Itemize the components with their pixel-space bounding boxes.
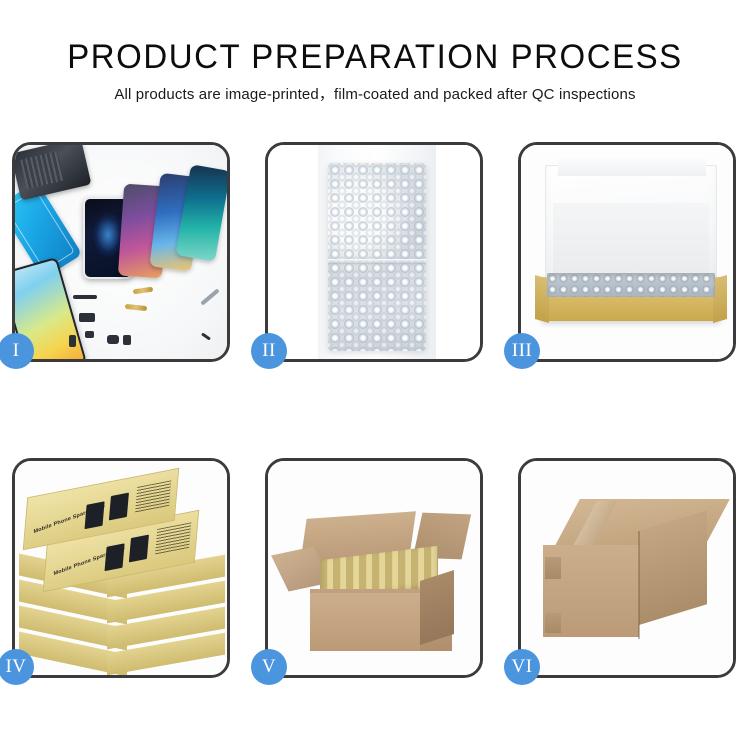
bubble-wrapped-product (328, 163, 426, 351)
step-photo-open-carton (268, 461, 480, 675)
step-card-3: III (518, 142, 736, 362)
carton-front-panel (310, 593, 420, 651)
process-steps-grid: I II (12, 142, 738, 678)
sealed-carton-tab-lower (545, 613, 561, 633)
scene-box-stack: Mobile Phone Spare Parts Mobile Phone Sp… (15, 461, 227, 675)
scene-spare-parts (15, 145, 227, 359)
camera-module (79, 313, 95, 322)
header: PRODUCT PREPARATION PROCESS All products… (0, 36, 750, 105)
step-badge-5: V (251, 649, 287, 685)
phone-chassis-open (15, 145, 91, 200)
step-photo-sealed-carton (521, 461, 733, 675)
box-thumb-2a (105, 543, 125, 571)
screw-set (201, 332, 211, 340)
step-card-4: Mobile Phone Spare Parts Mobile Phone Sp… (12, 458, 230, 678)
box-spec-lines-1 (135, 480, 171, 513)
sealed-carton-edge-seam (638, 531, 640, 639)
flex-cable-2 (125, 304, 147, 311)
step-card-2: II (265, 142, 483, 362)
sim-tray (69, 335, 76, 347)
box-thumb-2b (129, 535, 149, 563)
step-photo-parts (15, 145, 227, 359)
step-card-5: V (265, 458, 483, 678)
battery-connector (107, 335, 119, 344)
bubble-texture-secondary (328, 163, 426, 351)
step-badge-4: IV (0, 649, 34, 685)
sealed-carton-side (639, 510, 707, 625)
step-badge-3: III (504, 333, 540, 369)
flex-cable-1 (133, 287, 154, 295)
step-photo-bubble-wrap (268, 145, 480, 359)
bubble-wrapped-contents (547, 273, 715, 297)
scene-open-mailer (521, 145, 733, 359)
page-title: PRODUCT PREPARATION PROCESS (11, 36, 739, 78)
bubble-wrap-fold-seam (328, 259, 426, 264)
step-badge-6: VI (504, 649, 540, 685)
product-preparation-infographic: PRODUCT PREPARATION PROCESS All products… (0, 0, 750, 750)
step-photo-mailer-box (521, 145, 733, 359)
step-card-1: I (12, 142, 230, 362)
step-badge-1: I (0, 333, 34, 369)
page-subtitle: All products are image-printed，film-coat… (0, 85, 750, 105)
vibration-motor (123, 335, 131, 345)
carton-right-panel (420, 570, 454, 645)
step-card-6: VI (518, 458, 736, 678)
box-thumb-1a (85, 501, 105, 529)
scene-sealed-carton (521, 461, 733, 675)
step-badge-2: II (251, 333, 287, 369)
box-thumb-1b (109, 493, 129, 521)
step-photo-stacked-boxes: Mobile Phone Spare Parts Mobile Phone Sp… (15, 461, 227, 675)
scene-open-carton (268, 461, 480, 675)
button-component (85, 331, 94, 338)
scene-bubble-wrap (268, 145, 480, 359)
tool-tweezers (200, 288, 219, 305)
mailer-inner-panel (553, 203, 709, 279)
sealed-carton-tab-upper (545, 557, 561, 579)
box-spec-lines-2 (155, 522, 191, 555)
connector-strip (73, 295, 97, 299)
